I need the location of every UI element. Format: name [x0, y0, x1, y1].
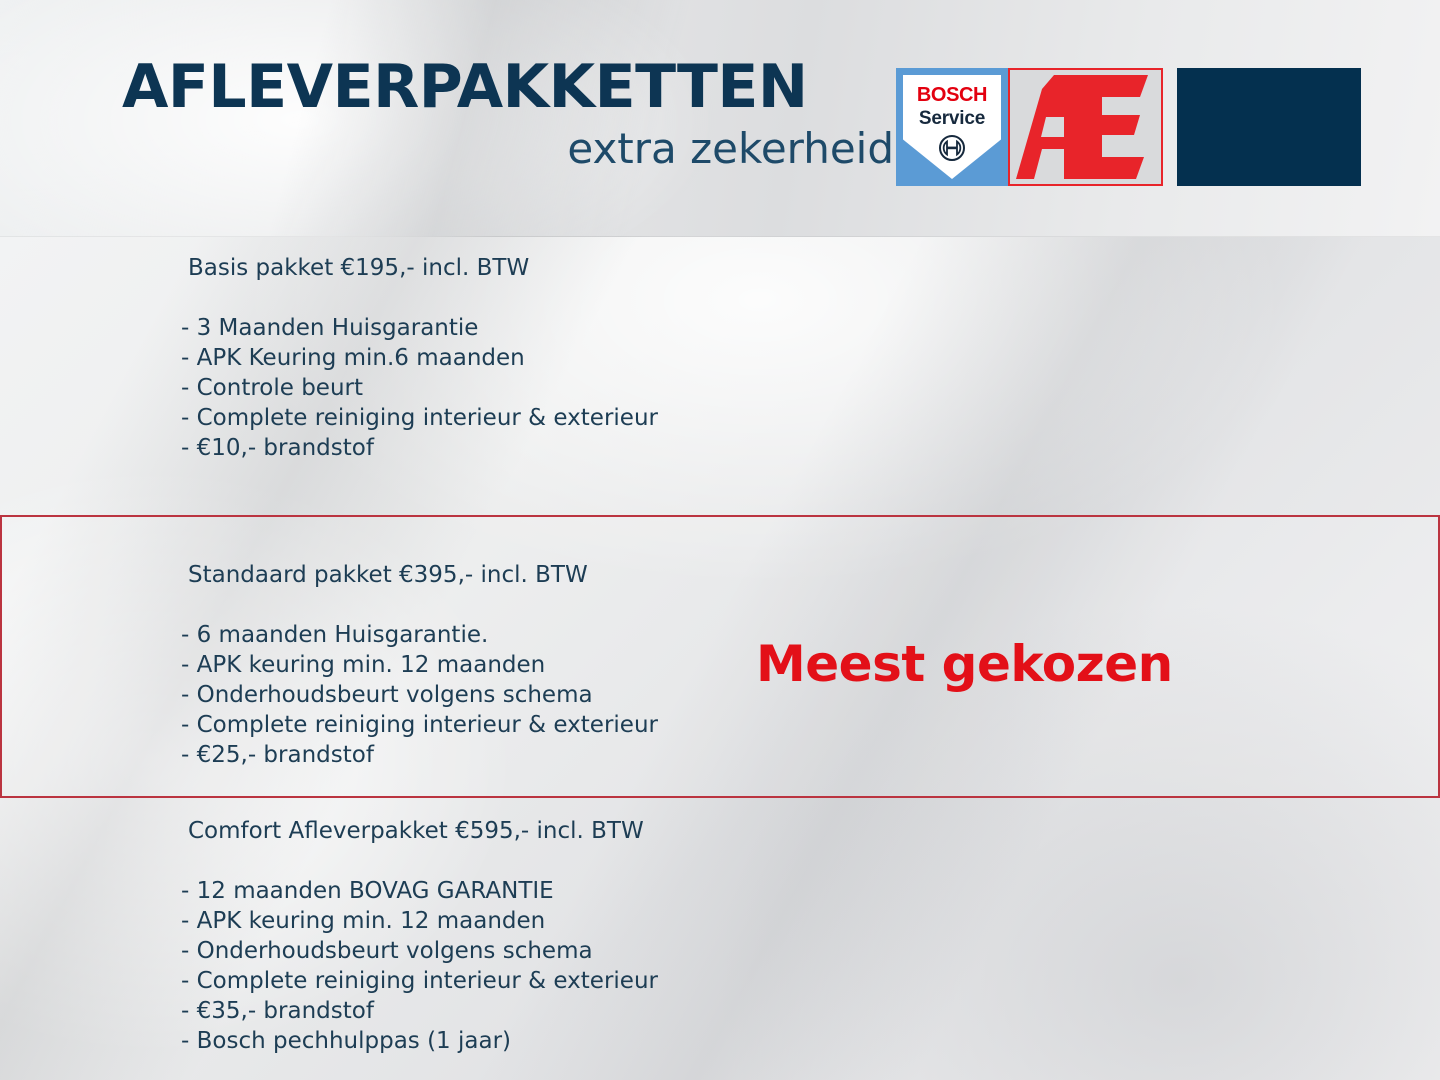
list-item: - Complete reiniging interieur & exterie… [181, 966, 658, 996]
list-item: - €35,- brandstof [181, 996, 658, 1026]
package-basis-list: - 3 Maanden Huisgarantie - APK Keuring m… [181, 313, 658, 463]
package-comfort-list: - 12 maanden BOVAG GARANTIE - APK keurin… [181, 876, 658, 1056]
list-item: - 3 Maanden Huisgarantie [181, 313, 658, 343]
list-item: - €10,- brandstof [181, 433, 658, 463]
list-item: - Controle beurt [181, 373, 658, 403]
badge-meest-gekozen: Meest gekozen [756, 635, 1173, 693]
slide-canvas: AFLEVERPAKKETTEN extra zekerheid BOSCH S… [0, 0, 1440, 1080]
list-item: - APK keuring min. 12 maanden [181, 906, 658, 936]
bosch-service-wordmark: Service [896, 108, 1008, 129]
bosch-armature-icon [938, 134, 966, 162]
ae-monogram-icon [1016, 75, 1156, 179]
navy-block [1177, 68, 1361, 186]
package-basis-heading: Basis pakket €195,- incl. BTW [188, 253, 529, 283]
ae-logo [1008, 68, 1163, 186]
package-standaard-heading: Standaard pakket €395,- incl. BTW [188, 560, 588, 590]
list-item: - APK Keuring min.6 maanden [181, 343, 658, 373]
list-item: - Onderhoudsbeurt volgens schema [181, 936, 658, 966]
list-item: - 6 maanden Huisgarantie. [181, 620, 658, 650]
package-comfort-heading: Comfort Afleverpakket €595,- incl. BTW [188, 816, 644, 846]
page-subtitle: extra zekerheid [567, 124, 894, 174]
header-band: AFLEVERPAKKETTEN extra zekerheid BOSCH S… [0, 0, 1440, 237]
bosch-service-logo: BOSCH Service [896, 68, 1008, 186]
list-item: - Bosch pechhulppas (1 jaar) [181, 1026, 658, 1056]
title-block: AFLEVERPAKKETTEN extra zekerheid [122, 56, 894, 186]
list-item: - Complete reiniging interieur & exterie… [181, 710, 658, 740]
list-item: - APK keuring min. 12 maanden [181, 650, 658, 680]
page-title: AFLEVERPAKKETTEN [122, 54, 808, 120]
list-item: - 12 maanden BOVAG GARANTIE [181, 876, 658, 906]
bosch-wordmark: BOSCH [896, 84, 1008, 106]
logo-row: BOSCH Service [896, 68, 1361, 186]
list-item: - €25,- brandstof [181, 740, 658, 770]
list-item: - Onderhoudsbeurt volgens schema [181, 680, 658, 710]
list-item: - Complete reiniging interieur & exterie… [181, 403, 658, 433]
package-standaard-list: - 6 maanden Huisgarantie. - APK keuring … [181, 620, 658, 770]
